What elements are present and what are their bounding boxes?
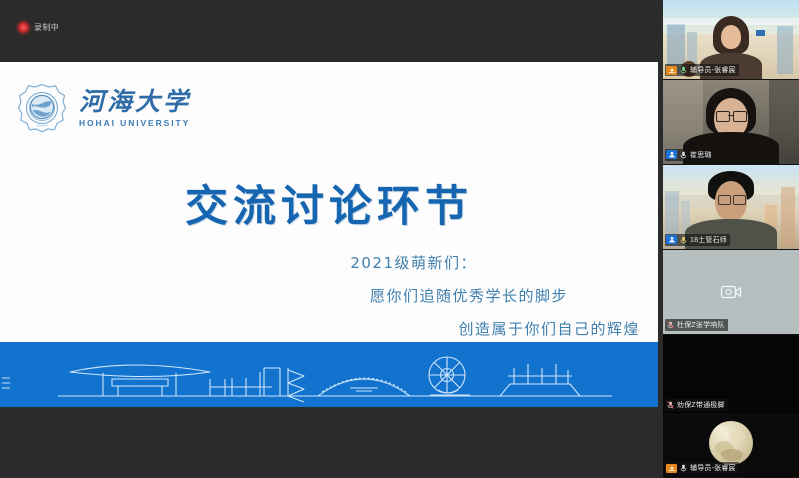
- slide-body-line-3: 创造属于你们自己的辉煌: [458, 318, 640, 339]
- mic-muted-icon-5: [666, 400, 675, 409]
- mic-icon-6: [679, 464, 688, 473]
- participant-name-bar-2: 崔思璐: [665, 149, 715, 161]
- participant-name-bar-4: 杜保Z张学响队: [665, 319, 728, 331]
- participant-name-2: 崔思璐: [690, 150, 712, 160]
- participant-name-bar-6: 辅导员-张睿宸: [665, 462, 739, 474]
- record-dot-icon: [18, 22, 29, 33]
- slide-title: 交流讨论环节: [0, 172, 658, 234]
- recording-label: 录制中: [34, 22, 59, 33]
- mic-icon-3: [679, 235, 688, 244]
- meeting-window: 录制中 HOHAI: [0, 0, 799, 478]
- participant-tile-6[interactable]: 辅导员-张睿宸: [663, 415, 799, 478]
- participant-name-bar-5: 劝保Z带通极脚: [665, 399, 728, 411]
- recording-indicator: 录制中: [18, 22, 59, 33]
- avatar: [709, 421, 753, 465]
- participant-name-3: 18土管石师: [690, 235, 727, 245]
- host-badge-icon-6: [666, 464, 677, 473]
- participant-tiles[interactable]: 辅导员-张睿宸: [663, 0, 799, 478]
- logo-name-cn: 河海大学: [79, 89, 191, 114]
- participant-name-4: 杜保Z张学响队: [677, 320, 725, 330]
- participant-tile-2[interactable]: 崔思璐: [663, 80, 799, 165]
- participant-name-5: 劝保Z带通极脚: [677, 400, 725, 410]
- slide-body-line-1: 2021级萌新们：: [350, 252, 477, 273]
- participant-name-1: 辅导员-张睿宸: [690, 65, 736, 75]
- slide-body: 2021级萌新们： 愿你们追随优秀学长的脚步 创造属于你们自己的辉煌: [0, 252, 658, 339]
- mic-icon-2: [679, 150, 688, 159]
- participant-tile-3[interactable]: 18土管石师: [663, 165, 799, 250]
- hohai-university-crest-icon: HOHAI: [16, 82, 68, 134]
- campus-skyline-illustration: [0, 342, 658, 407]
- recording-bar: 录制中: [0, 0, 663, 62]
- mic-muted-icon-4: [666, 320, 675, 329]
- svg-text:HOHAI: HOHAI: [37, 124, 49, 128]
- university-logo: HOHAI 河海大学 HOHAI UNIVERSITY: [16, 82, 191, 134]
- host-badge-icon-1: [666, 66, 677, 75]
- participant-tile-4[interactable]: 杜保Z张学响队: [663, 250, 799, 335]
- shared-slide[interactable]: HOHAI 河海大学 HOHAI UNIVERSITY 交流讨论环节 2021级…: [0, 62, 658, 407]
- participant-tile-5[interactable]: 劝保Z带通极脚: [663, 335, 799, 415]
- participant-badge-icon-2: [666, 150, 677, 159]
- participant-tile-1[interactable]: 辅导员-张睿宸: [663, 0, 799, 80]
- participant-name-6: 辅导员-张睿宸: [690, 463, 736, 473]
- slide-body-line-2: 愿你们追随优秀学长的脚步: [370, 285, 568, 306]
- participant-name-bar-3: 18土管石师: [665, 234, 730, 246]
- slide-title-text: 交流讨论环节: [185, 182, 473, 232]
- participant-badge-icon-3: [666, 235, 677, 244]
- logo-name-en: HOHAI UNIVERSITY: [79, 119, 191, 128]
- slide-footer-band: [0, 342, 658, 407]
- camera-off-icon: [720, 283, 742, 301]
- mic-icon-1: [679, 66, 688, 75]
- participant-name-bar-1: 辅导员-张睿宸: [665, 64, 739, 76]
